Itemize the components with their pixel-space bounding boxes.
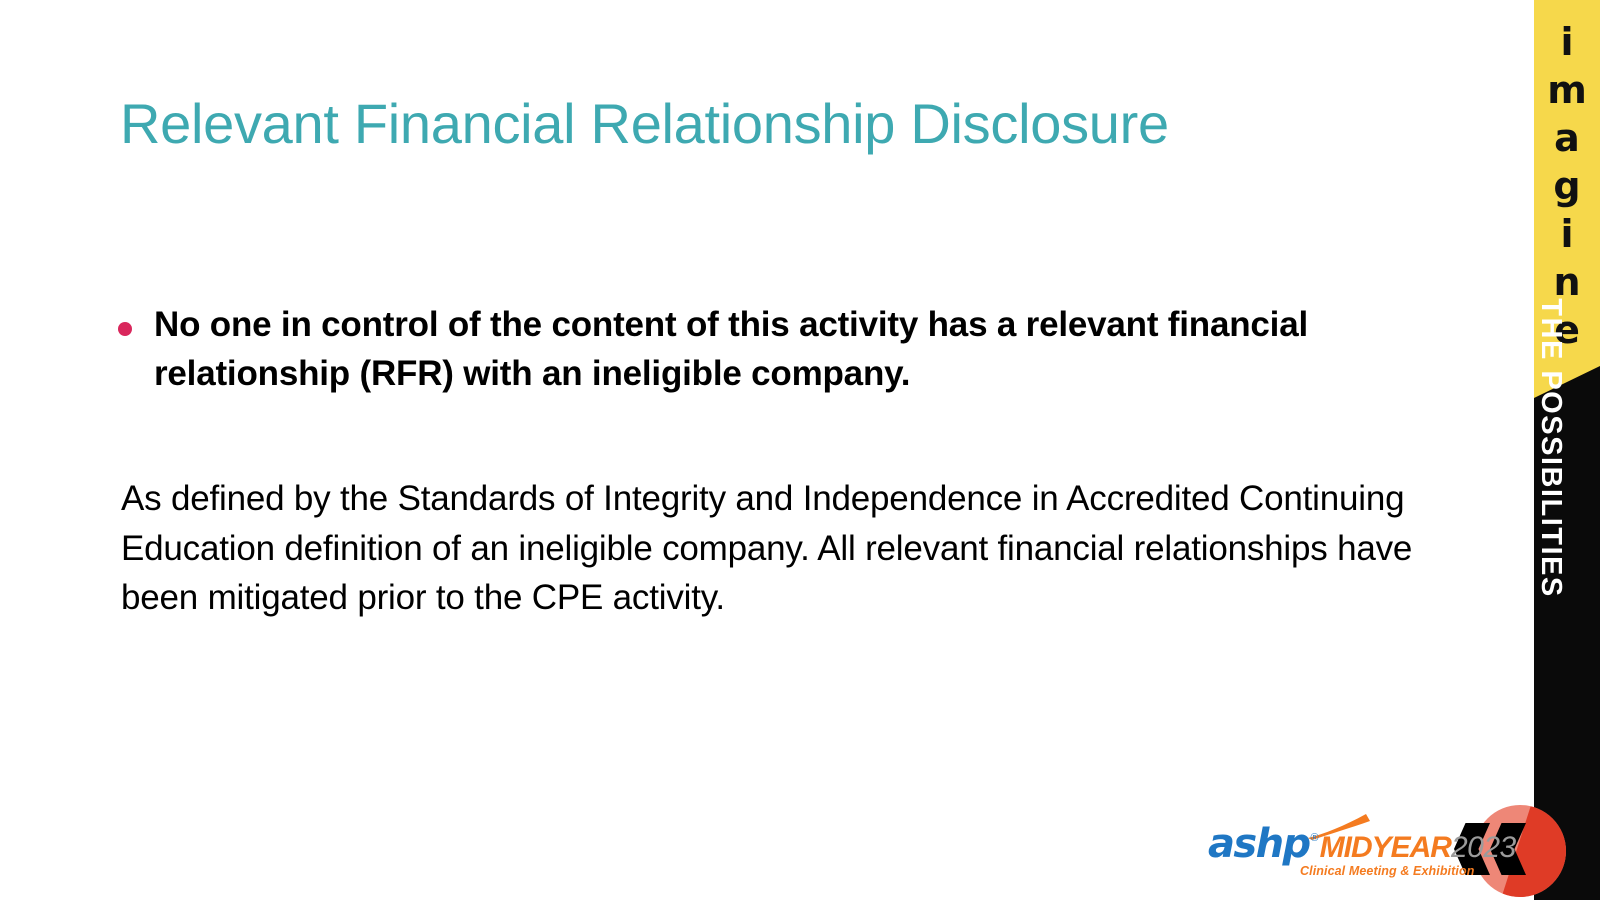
logo-ashp-text: ashp <box>1208 824 1310 864</box>
imagine-letter: i <box>1560 18 1573 66</box>
logo-tagline: Clinical Meeting & Exhibition <box>1300 864 1474 878</box>
imagine-letter: a <box>1554 114 1580 162</box>
brand-sidebar: i m a g i n e THE POSSIBILITIES <box>1534 0 1600 900</box>
logo-year-text: 2023 <box>1451 833 1516 863</box>
slide-canvas: Relevant Financial Relationship Disclosu… <box>0 0 1600 900</box>
slide-body: No one in control of the content of this… <box>118 300 1448 623</box>
bullet-list-item: No one in control of the content of this… <box>118 300 1368 398</box>
page-title: Relevant Financial Relationship Disclosu… <box>120 93 1410 156</box>
bullet-dot-icon <box>118 322 132 336</box>
bullet-item-label: No one in control of the content of this… <box>154 300 1368 398</box>
logo-text-row: ashp ® MIDYEAR 2023 <box>1208 824 1516 864</box>
imagine-letter: g <box>1553 162 1580 210</box>
ashp-midyear-logo: ashp ® MIDYEAR 2023 Clinical Meeting & E… <box>1208 818 1476 880</box>
brand-sidebar-tagline: THE POSSIBILITIES <box>1534 298 1567 597</box>
body-paragraph: As defined by the Standards of Integrity… <box>121 474 1451 623</box>
imagine-letter: m <box>1547 66 1587 114</box>
registered-mark-icon: ® <box>1311 832 1319 844</box>
imagine-letter: i <box>1560 210 1573 258</box>
logo-midyear-text: MIDYEAR <box>1320 833 1451 863</box>
